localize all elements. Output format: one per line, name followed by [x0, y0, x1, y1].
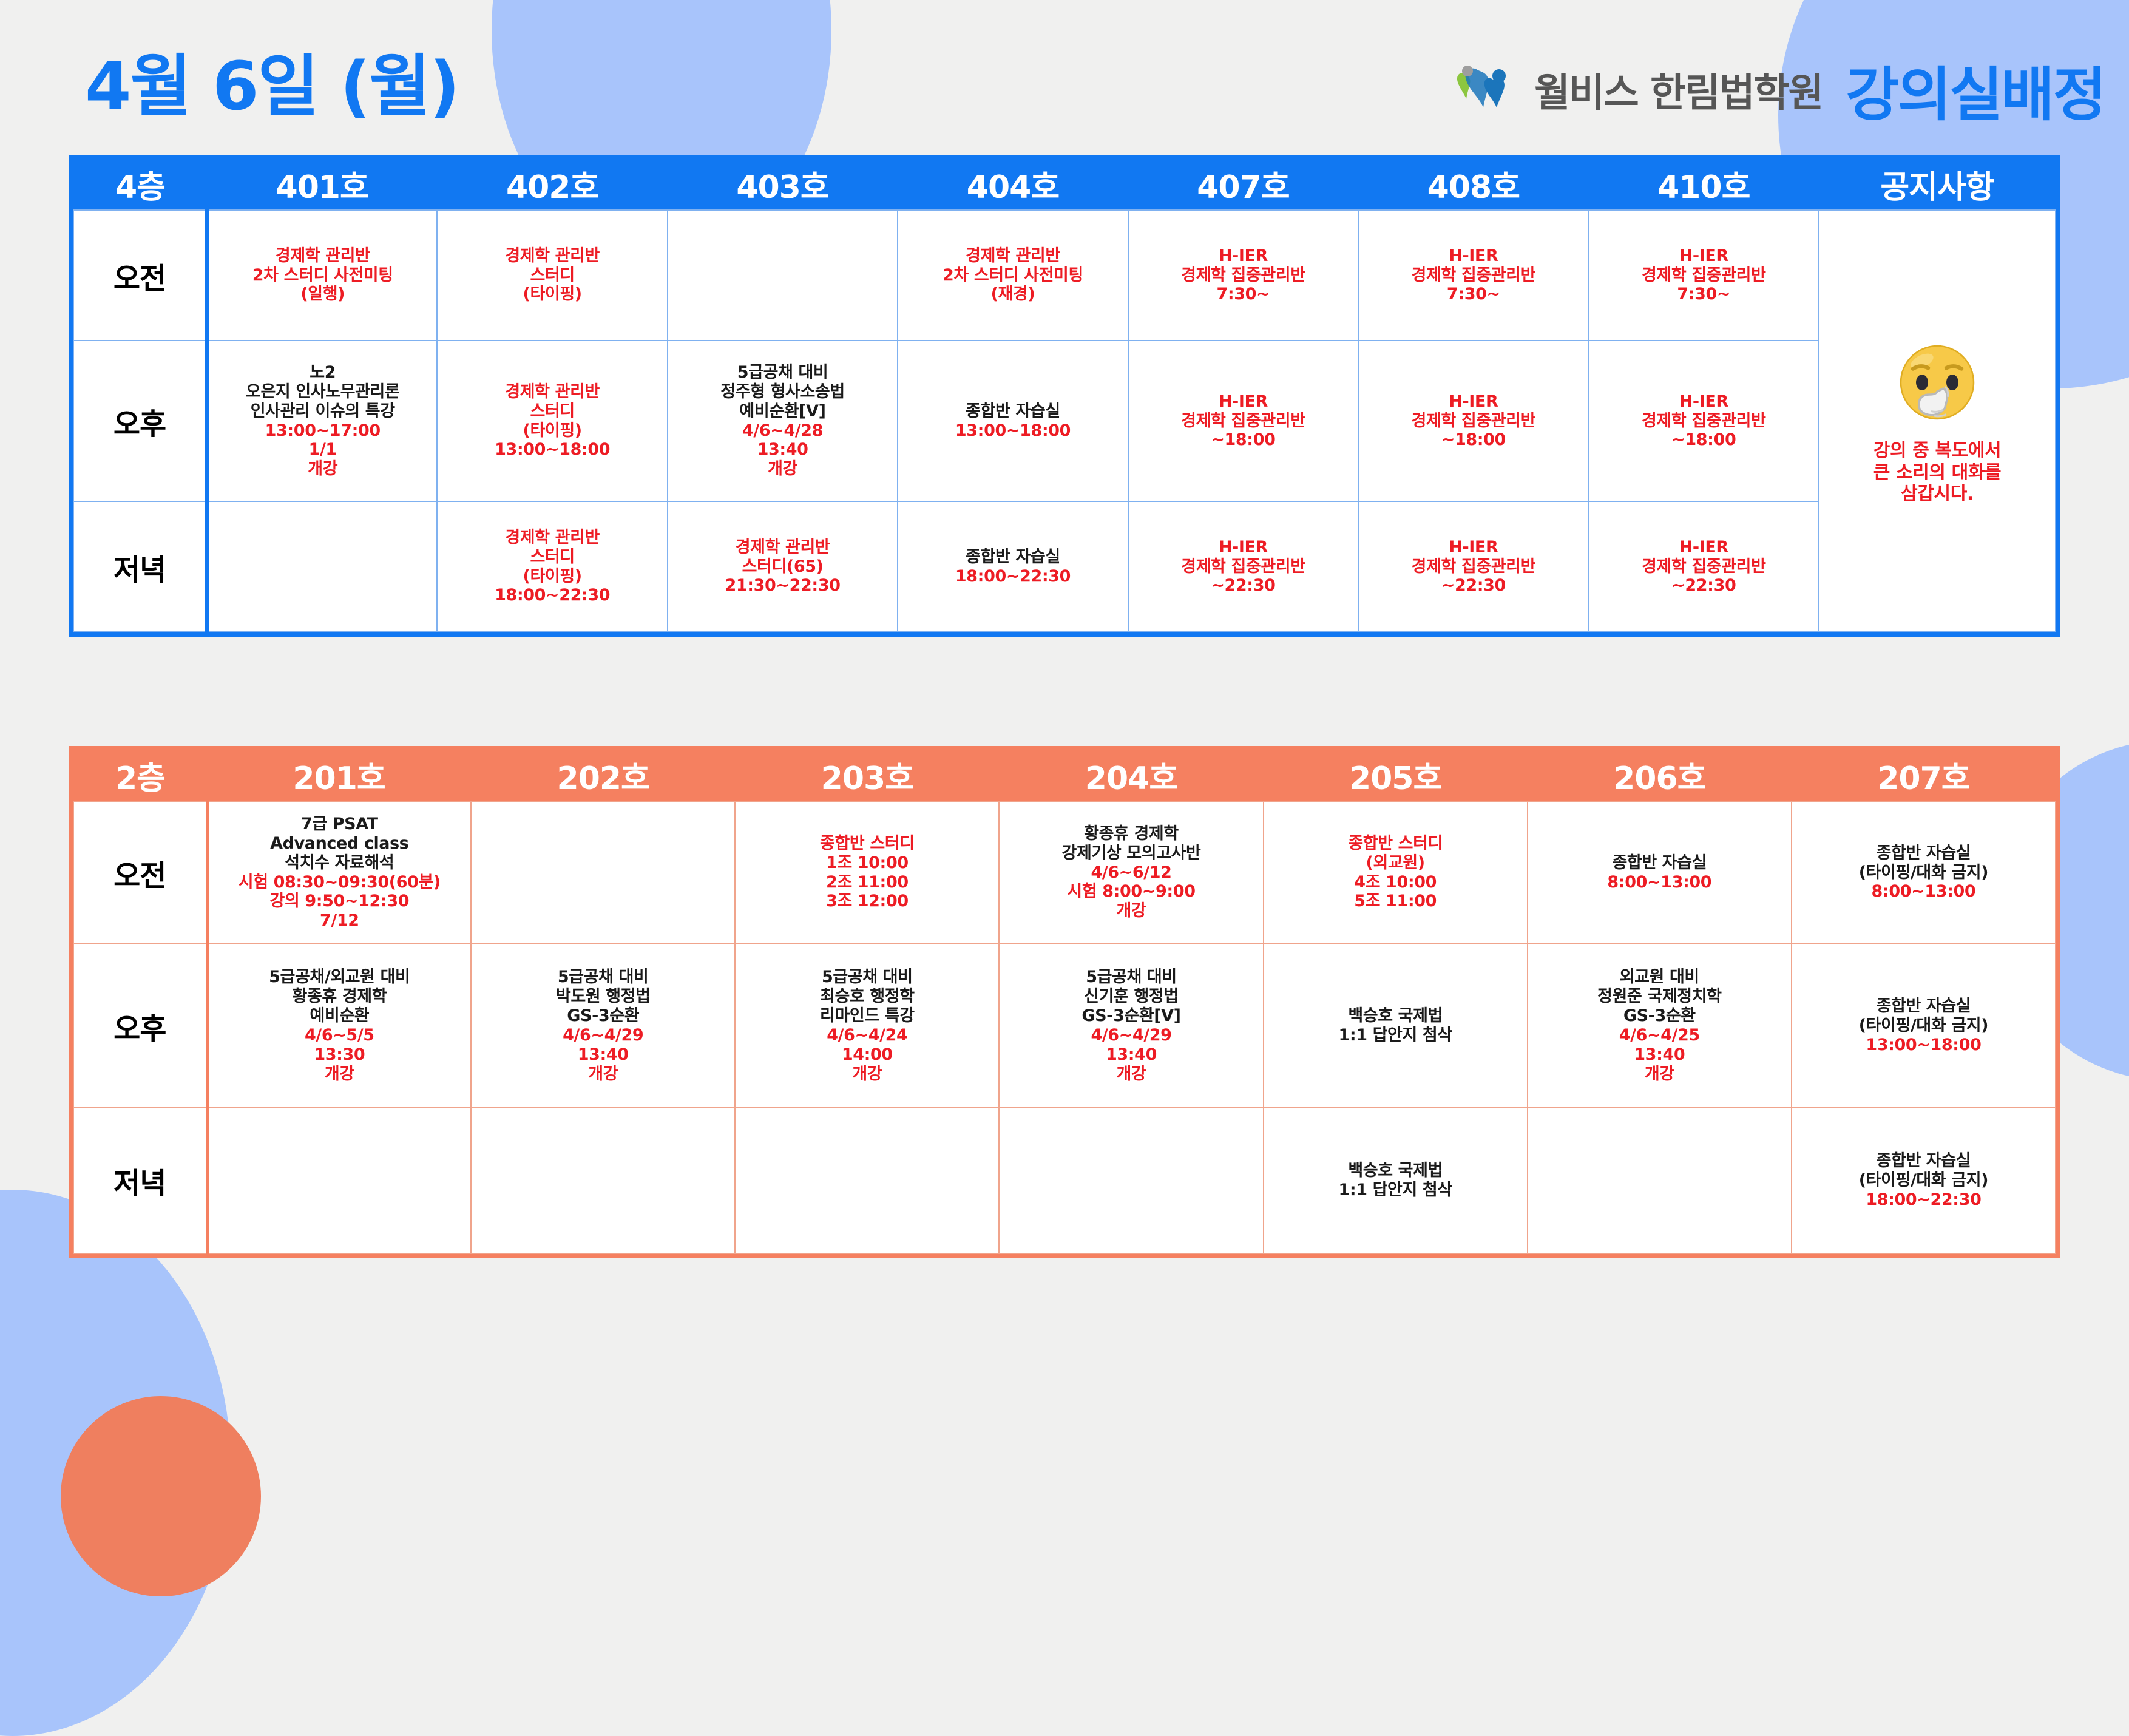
- cell-line: 14:00: [737, 1045, 997, 1065]
- cell-204-morning[interactable]: 황종휴 경제학강제기상 모의고사반4/6~6/12시험 8:00~9:00개강: [999, 801, 1263, 944]
- cell-line: 예비순환[V]: [669, 402, 896, 421]
- table-row-floor4-evening: 저녁 경제학 관리반스터디(타이핑)18:00~22:30 경제학 관리반스터디…: [73, 501, 2056, 632]
- cell-403-morning[interactable]: [668, 210, 898, 341]
- cell-202-morning[interactable]: [471, 801, 735, 944]
- cell-line: 정원준 국제정치학: [1529, 987, 1790, 1006]
- header-room-401: 401호: [207, 159, 437, 210]
- brand-name: 월비스 한림법학원: [1534, 62, 1823, 118]
- cell-line: 7:30~: [1130, 285, 1356, 304]
- cell-202-evening[interactable]: [471, 1108, 735, 1253]
- cell-line: GS-3순환[V]: [1001, 1006, 1261, 1026]
- cell-line: 4/6~4/24: [737, 1026, 997, 1045]
- cell-line: 외교원 대비: [1529, 968, 1790, 987]
- cell-line: 종합반 자습실: [899, 548, 1126, 567]
- header-room-410: 410호: [1589, 159, 1819, 210]
- cell-201-morning[interactable]: 7급 PSATAdvanced class석치수 자료해석시험 08:30~09…: [207, 801, 471, 944]
- cell-line: 경제학 집중관리반: [1130, 266, 1356, 285]
- cell-line: 개강: [1001, 901, 1261, 921]
- cell-line: 종합반 자습실: [1529, 853, 1790, 873]
- cell-402-afternoon[interactable]: 경제학 관리반스터디(타이핑)13:00~18:00: [437, 341, 667, 501]
- wolbis-people-logo-icon: [1449, 64, 1521, 116]
- cell-line: 7:30~: [1591, 285, 1817, 304]
- page-header: 4월 6일 (월) 월비스 한림법학원 강의실배정: [0, 0, 2129, 155]
- cell-line: 13:40: [1001, 1045, 1261, 1065]
- cell-line: 13:40: [1529, 1045, 1790, 1065]
- cell-line: 개강: [1529, 1065, 1790, 1084]
- cell-line: 스터디: [439, 402, 665, 421]
- cell-402-morning[interactable]: 경제학 관리반스터디(타이핑): [437, 210, 667, 341]
- cell-line: H-IER: [1591, 538, 1817, 557]
- cell-line: H-IER: [1360, 246, 1586, 266]
- cell-line: 강의 9:50~12:30: [210, 892, 470, 911]
- cell-410-afternoon[interactable]: H-IER경제학 집중관리반~18:00: [1589, 341, 1819, 501]
- cell-line: 스터디(65): [669, 557, 896, 577]
- cell-408-afternoon[interactable]: H-IER경제학 집중관리반~18:00: [1358, 341, 1588, 501]
- cell-401-evening[interactable]: [207, 501, 437, 632]
- cell-407-morning[interactable]: H-IER경제학 집중관리반7:30~: [1128, 210, 1358, 341]
- page-title: 4월 6일 (월): [85, 32, 459, 129]
- cell-line: 7/12: [210, 911, 470, 931]
- cell-line: 개강: [210, 1065, 470, 1084]
- header-room-408: 408호: [1358, 159, 1588, 210]
- cell-407-afternoon[interactable]: H-IER경제학 집중관리반~18:00: [1128, 341, 1358, 501]
- cell-line: GS-3순환: [1529, 1006, 1790, 1026]
- table-row-floor2-morning: 오전 7급 PSATAdvanced class석치수 자료해석시험 08:30…: [73, 801, 2056, 944]
- cell-201-afternoon[interactable]: 5급공채/외교원 대비황종휴 경제학예비순환4/6~5/513:30개강: [207, 944, 471, 1108]
- cell-line: ~18:00: [1130, 430, 1356, 450]
- header-room-402: 402호: [437, 159, 667, 210]
- cell-404-afternoon[interactable]: 종합반 자습실13:00~18:00: [898, 341, 1128, 501]
- table-header-row-floor-4: 4층 401호 402호 403호 404호 407호 408호 410호 공지…: [73, 159, 2056, 210]
- table-row-floor4-morning: 오전 경제학 관리반2차 스터디 사전미팅(일행) 경제학 관리반스터디(타이핑…: [73, 210, 2056, 341]
- cell-line: 종합반 자습실: [899, 402, 1126, 421]
- cell-line: ~22:30: [1360, 576, 1586, 595]
- table-row-floor4-afternoon: 오후 노2오은지 인사노무관리론인사관리 이슈의 특강13:00~17:001/…: [73, 341, 2056, 501]
- header-room-404: 404호: [898, 159, 1128, 210]
- cell-206-evening[interactable]: [1528, 1108, 1792, 1253]
- header-room-204: 204호: [999, 750, 1263, 801]
- header-room-203: 203호: [735, 750, 999, 801]
- cell-207-evening[interactable]: 종합반 자습실(타이핑/대화 금지)18:00~22:30: [1792, 1108, 2056, 1253]
- cell-line: 5급공채/외교원 대비: [210, 968, 470, 987]
- header-room-207: 207호: [1792, 750, 2056, 801]
- header-room-202: 202호: [471, 750, 735, 801]
- cell-202-afternoon[interactable]: 5급공채 대비박도원 행정법GS-3순환4/6~4/2913:40개강: [471, 944, 735, 1108]
- cell-line: 18:00~22:30: [439, 586, 665, 605]
- cell-line: 5급공채 대비: [737, 968, 997, 987]
- cell-206-afternoon[interactable]: 외교원 대비정원준 국제정치학GS-3순환4/6~4/2513:40개강: [1528, 944, 1792, 1108]
- cell-line: (타이핑/대화 금지): [1793, 1171, 2054, 1190]
- cell-line: ~18:00: [1360, 430, 1586, 450]
- period-label-morning: 오전: [73, 210, 207, 341]
- cell-line: 경제학 관리반: [669, 538, 896, 557]
- cell-line: 경제학 관리반: [439, 528, 665, 548]
- cell-line: H-IER: [1130, 392, 1356, 412]
- cell-line: 스터디: [439, 266, 665, 285]
- notice-text: 강의 중 복도에서큰 소리의 대화를삼갑시다.: [1873, 440, 2002, 504]
- cell-line: 경제학 집중관리반: [1360, 557, 1586, 577]
- header-floor-label: 4층: [73, 159, 207, 210]
- header-room-403: 403호: [668, 159, 898, 210]
- cell-205-morning[interactable]: 종합반 스터디(외교원)4조 10:005조 11:00: [1264, 801, 1528, 944]
- cell-line: (일행): [210, 285, 435, 304]
- cell-line: 13:00~18:00: [439, 440, 665, 459]
- cell-line: 정주형 형사소송법: [669, 382, 896, 402]
- cell-line: 경제학 집중관리반: [1591, 412, 1817, 431]
- cell-line: 경제학 집중관리반: [1130, 412, 1356, 431]
- header-room-201: 201호: [207, 750, 471, 801]
- cell-line: 18:00~22:30: [899, 567, 1126, 586]
- header-notice: 공지사항: [1819, 159, 2056, 210]
- schedule-table-floor-2: 2층 201호 202호 203호 204호 205호 206호 207호 오전…: [73, 750, 2056, 1254]
- cell-205-evening[interactable]: 백승호 국제법1:1 답안지 첨삭: [1264, 1108, 1528, 1253]
- cell-line: 8:00~13:00: [1529, 873, 1790, 892]
- cell-line: 석치수 자료해석: [210, 853, 470, 873]
- cell-line: 4/6~5/5: [210, 1026, 470, 1045]
- cell-403-evening[interactable]: 경제학 관리반스터디(65)21:30~22:30: [668, 501, 898, 632]
- schedule-table-floor-4: 4층 401호 402호 403호 404호 407호 408호 410호 공지…: [73, 159, 2056, 632]
- cell-line: H-IER: [1130, 538, 1356, 557]
- cell-line: 개강: [669, 459, 896, 479]
- cell-line: H-IER: [1130, 246, 1356, 266]
- cell-404-evening[interactable]: 종합반 자습실18:00~22:30: [898, 501, 1128, 632]
- header-room-407: 407호: [1128, 159, 1358, 210]
- cell-line: 경제학 집중관리반: [1130, 557, 1356, 577]
- cell-line: 5조 11:00: [1265, 892, 1526, 911]
- cell-line: ~22:30: [1130, 576, 1356, 595]
- cell-line: 4/6~4/29: [473, 1026, 733, 1045]
- brand-block: 월비스 한림법학원 강의실배정: [1449, 47, 2105, 132]
- cell-410-evening[interactable]: H-IER경제학 집중관리반~22:30: [1589, 501, 1819, 632]
- cell-line: 경제학 관리반: [439, 382, 665, 402]
- cell-204-afternoon[interactable]: 5급공채 대비신기훈 행정법GS-3순환[V]4/6~4/2913:40개강: [999, 944, 1263, 1108]
- cell-line: 8:00~13:00: [1793, 882, 2054, 901]
- notice-cell: 강의 중 복도에서큰 소리의 대화를삼갑시다.: [1819, 210, 2056, 632]
- cell-line: 18:00~22:30: [1793, 1190, 2054, 1210]
- cell-line: 종합반 자습실: [1793, 1151, 2054, 1171]
- cell-line: 개강: [473, 1065, 733, 1084]
- cell-201-evening[interactable]: [207, 1108, 471, 1253]
- cell-line: 개강: [1001, 1065, 1261, 1084]
- period-label-evening-2: 저녁: [73, 1108, 207, 1253]
- period-label-morning-2: 오전: [73, 801, 207, 944]
- cell-line: 개강: [210, 459, 435, 479]
- cell-line: 종합반 자습실: [1793, 997, 2054, 1016]
- cell-203-morning[interactable]: 종합반 스터디1조 10:002조 11:003조 12:00: [735, 801, 999, 944]
- header-floor-label-2: 2층: [73, 750, 207, 801]
- cell-line: 13:00~18:00: [899, 421, 1126, 441]
- cell-line: 3조 12:00: [737, 892, 997, 911]
- cell-line: 4/6~4/29: [1001, 1026, 1261, 1045]
- cell-line: H-IER: [1591, 392, 1817, 412]
- cell-line: H-IER: [1360, 392, 1586, 412]
- header-room-205: 205호: [1264, 750, 1528, 801]
- cell-line: (타이핑): [439, 567, 665, 586]
- cell-line: 종합반 스터디: [1265, 834, 1526, 853]
- cell-207-morning[interactable]: 종합반 자습실(타이핑/대화 금지)8:00~13:00: [1792, 801, 2056, 944]
- cell-line: Advanced class: [210, 834, 470, 853]
- cell-line: 경제학 관리반: [439, 246, 665, 266]
- cell-205-afternoon[interactable]: 백승호 국제법1:1 답안지 첨삭: [1264, 944, 1528, 1108]
- cell-line: 종합반 스터디: [737, 834, 997, 853]
- cell-line: 13:40: [473, 1045, 733, 1065]
- cell-line: 13:00~18:00: [1793, 1036, 2054, 1055]
- cell-line: H-IER: [1360, 538, 1586, 557]
- cell-line: 13:30: [210, 1045, 470, 1065]
- cell-line: (외교원): [1265, 853, 1526, 873]
- cell-line: 4/6~6/12: [1001, 863, 1261, 883]
- cell-line: 경제학 관리반: [210, 246, 435, 266]
- cell-line: 황종휴 경제학: [1001, 824, 1261, 844]
- cell-line: 예비순환: [210, 1006, 470, 1026]
- cell-line: 7급 PSAT: [210, 815, 470, 834]
- period-label-afternoon: 오후: [73, 341, 207, 501]
- cell-408-morning[interactable]: H-IER경제학 집중관리반7:30~: [1358, 210, 1588, 341]
- cell-line: 4/6~4/28: [669, 421, 896, 441]
- cell-line: 5급공채 대비: [669, 363, 896, 382]
- cell-line: GS-3순환: [473, 1006, 733, 1026]
- notice-line: 삼갑시다.: [1873, 483, 2002, 504]
- cell-401-afternoon[interactable]: 노2오은지 인사노무관리론인사관리 이슈의 특강13:00~17:001/1개강: [207, 341, 437, 501]
- cell-line: 노2: [210, 363, 435, 382]
- cell-line: 신기훈 행정법: [1001, 987, 1261, 1006]
- cell-line: 1조 10:00: [737, 853, 997, 873]
- cell-line: 5급공채 대비: [473, 968, 733, 987]
- table-header-row-floor-2: 2층 201호 202호 203호 204호 205호 206호 207호: [73, 750, 2056, 801]
- cell-line: 황종휴 경제학: [210, 987, 470, 1006]
- cell-line: 13:40: [669, 440, 896, 459]
- cell-line: 4/6~4/25: [1529, 1026, 1790, 1045]
- cell-line: (재경): [899, 285, 1126, 304]
- header-room-206: 206호: [1528, 750, 1792, 801]
- shushing-face-icon: [1889, 337, 1986, 434]
- cell-line: 개강: [737, 1065, 997, 1084]
- notice-line: 큰 소리의 대화를: [1873, 462, 2002, 483]
- cell-line: 5급공채 대비: [1001, 968, 1261, 987]
- cell-line: (타이핑): [439, 285, 665, 304]
- cell-line: 4조 10:00: [1265, 873, 1526, 892]
- cell-line: 최승호 행정학: [737, 987, 997, 1006]
- cell-line: 인사관리 이슈의 특강: [210, 402, 435, 421]
- cell-line: 경제학 집중관리반: [1360, 266, 1586, 285]
- cell-line: H-IER: [1591, 246, 1817, 266]
- cell-404-morning[interactable]: 경제학 관리반2차 스터디 사전미팅(재경): [898, 210, 1128, 341]
- cell-line: 1:1 답안지 첨삭: [1265, 1181, 1526, 1200]
- cell-line: 경제학 집중관리반: [1360, 412, 1586, 431]
- period-label-evening: 저녁: [73, 501, 207, 632]
- cell-410-morning[interactable]: H-IER경제학 집중관리반7:30~: [1589, 210, 1819, 341]
- cell-line: 백승호 국제법: [1265, 1161, 1526, 1181]
- decorative-blob-bottom-left-orange: [61, 1396, 261, 1596]
- cell-line: 경제학 관리반: [899, 246, 1126, 266]
- cell-line: (타이핑/대화 금지): [1793, 1016, 2054, 1036]
- cell-line: 2차 스터디 사전미팅: [210, 266, 435, 285]
- cell-line: ~18:00: [1591, 430, 1817, 450]
- cell-line: 강제기상 모의고사반: [1001, 844, 1261, 863]
- cell-203-afternoon[interactable]: 5급공채 대비최승호 행정학리마인드 특강4/6~4/2414:00개강: [735, 944, 999, 1108]
- cell-402-evening[interactable]: 경제학 관리반스터디(타이핑)18:00~22:30: [437, 501, 667, 632]
- cell-408-evening[interactable]: H-IER경제학 집중관리반~22:30: [1358, 501, 1588, 632]
- cell-line: 1/1: [210, 440, 435, 459]
- cell-line: 박도원 행정법: [473, 987, 733, 1006]
- cell-line: 시험 8:00~9:00: [1001, 882, 1261, 901]
- cell-401-morning[interactable]: 경제학 관리반2차 스터디 사전미팅(일행): [207, 210, 437, 341]
- cell-line: 경제학 집중관리반: [1591, 266, 1817, 285]
- cell-line: 13:00~17:00: [210, 421, 435, 441]
- cell-line: 경제학 집중관리반: [1591, 557, 1817, 577]
- cell-204-evening[interactable]: [999, 1108, 1263, 1253]
- cell-line: 오은지 인사노무관리론: [210, 382, 435, 402]
- cell-207-afternoon[interactable]: 종합반 자습실(타이핑/대화 금지)13:00~18:00: [1792, 944, 2056, 1108]
- cell-line: 시험 08:30~09:30(60분): [210, 873, 470, 892]
- cell-line: 1:1 답안지 첨삭: [1265, 1026, 1526, 1045]
- cell-206-morning[interactable]: 종합반 자습실8:00~13:00: [1528, 801, 1792, 944]
- cell-line: 백승호 국제법: [1265, 1006, 1526, 1026]
- cell-line: 스터디: [439, 548, 665, 567]
- cell-203-evening[interactable]: [735, 1108, 999, 1253]
- cell-line: 2조 11:00: [737, 873, 997, 892]
- cell-403-afternoon[interactable]: 5급공채 대비정주형 형사소송법예비순환[V]4/6~4/2813:40개강: [668, 341, 898, 501]
- cell-line: 21:30~22:30: [669, 576, 896, 595]
- cell-line: (타이핑/대화 금지): [1793, 863, 2054, 883]
- cell-line: (타이핑): [439, 421, 665, 441]
- cell-line: 7:30~: [1360, 285, 1586, 304]
- cell-line: 종합반 자습실: [1793, 844, 2054, 863]
- cell-line: ~22:30: [1591, 576, 1817, 595]
- cell-line: 리마인드 특강: [737, 1006, 997, 1026]
- notice-line: 강의 중 복도에서: [1873, 440, 2002, 461]
- table-row-floor2-evening: 저녁 백승호 국제법1:1 답안지 첨삭 종합반 자습실(타이핑/대화 금지)1…: [73, 1108, 2056, 1253]
- header-subtitle: 강의실배정: [1846, 47, 2105, 132]
- cell-407-evening[interactable]: H-IER경제학 집중관리반~22:30: [1128, 501, 1358, 632]
- period-label-afternoon-2: 오후: [73, 944, 207, 1108]
- table-row-floor2-afternoon: 오후 5급공채/외교원 대비황종휴 경제학예비순환4/6~5/513:30개강 …: [73, 944, 2056, 1108]
- cell-line: 2차 스터디 사전미팅: [899, 266, 1126, 285]
